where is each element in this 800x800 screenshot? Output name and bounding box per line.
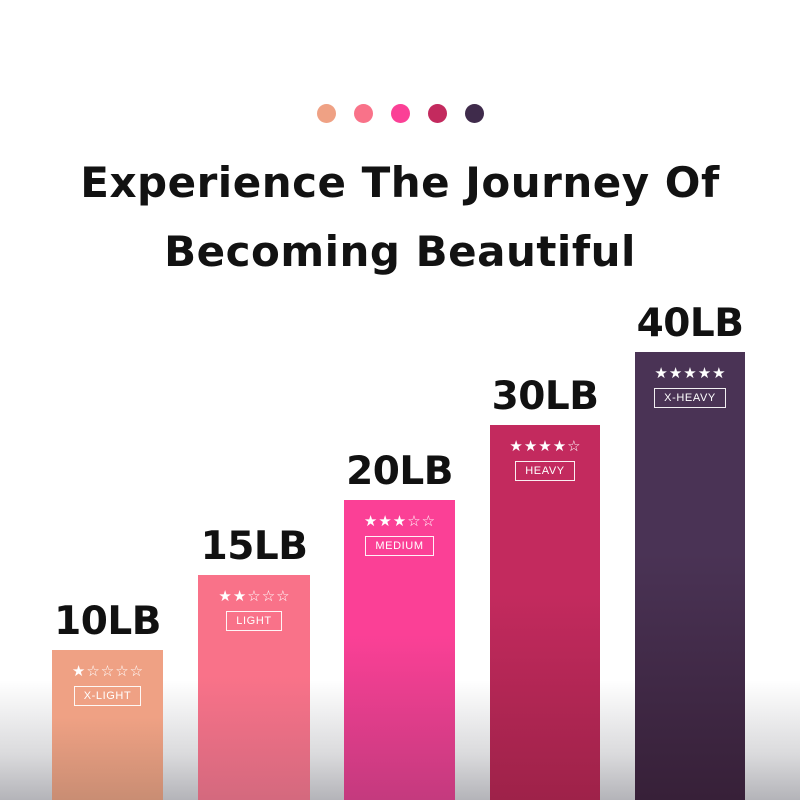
color-swatch-row bbox=[0, 104, 800, 123]
dot-medium bbox=[391, 104, 410, 123]
bar-weight-label: 30LB bbox=[492, 375, 599, 419]
star-empty-icon: ☆ bbox=[247, 589, 260, 604]
product-infographic: Experience The Journey Of Becoming Beaut… bbox=[0, 0, 800, 800]
star-filled-icon: ★ bbox=[509, 439, 522, 454]
dot-x-heavy bbox=[465, 104, 484, 123]
star-empty-icon: ☆ bbox=[422, 514, 435, 529]
bar-weight-label: 40LB bbox=[637, 302, 744, 346]
star-empty-icon: ☆ bbox=[262, 589, 275, 604]
star-rating: ★☆☆☆☆ bbox=[72, 664, 143, 679]
bar-group[interactable]: 15LB★★☆☆☆LIGHT bbox=[198, 519, 310, 800]
bar-rating-badge: ★★★★★X-HEAVY bbox=[635, 366, 745, 408]
bar-weight-label: 10LB bbox=[54, 600, 161, 644]
bar-weight-label: 20LB bbox=[346, 450, 453, 494]
bar-rating-badge: ★★★★☆HEAVY bbox=[490, 439, 600, 481]
bar-column[interactable]: ★☆☆☆☆X-LIGHT bbox=[52, 650, 163, 800]
bar-column[interactable]: ★★★☆☆MEDIUM bbox=[344, 500, 455, 800]
star-filled-icon: ★ bbox=[538, 439, 551, 454]
star-filled-icon: ★ bbox=[712, 366, 725, 381]
headline-line-1: Experience The Journey Of bbox=[0, 148, 800, 217]
star-filled-icon: ★ bbox=[378, 514, 391, 529]
star-filled-icon: ★ bbox=[669, 366, 682, 381]
bar-column[interactable]: ★★★★★X-HEAVY bbox=[635, 352, 745, 800]
star-rating: ★★★☆☆ bbox=[364, 514, 435, 529]
star-filled-icon: ★ bbox=[524, 439, 537, 454]
bar-group[interactable]: 30LB★★★★☆HEAVY bbox=[490, 369, 600, 800]
tier-label: X-LIGHT bbox=[74, 686, 142, 706]
star-filled-icon: ★ bbox=[654, 366, 667, 381]
star-empty-icon: ☆ bbox=[567, 439, 580, 454]
star-empty-icon: ☆ bbox=[276, 589, 289, 604]
page-title: Experience The Journey Of Becoming Beaut… bbox=[0, 148, 800, 286]
dot-x-light bbox=[317, 104, 336, 123]
star-rating: ★★☆☆☆ bbox=[218, 589, 289, 604]
bar-column[interactable]: ★★☆☆☆LIGHT bbox=[198, 575, 310, 800]
star-filled-icon: ★ bbox=[698, 366, 711, 381]
star-empty-icon: ☆ bbox=[407, 514, 420, 529]
bar-group[interactable]: 10LB★☆☆☆☆X-LIGHT bbox=[52, 594, 163, 800]
star-empty-icon: ☆ bbox=[130, 664, 143, 679]
star-rating: ★★★★★ bbox=[654, 366, 725, 381]
star-filled-icon: ★ bbox=[218, 589, 231, 604]
tier-label: HEAVY bbox=[515, 461, 574, 481]
bar-rating-badge: ★★★☆☆MEDIUM bbox=[344, 514, 455, 556]
tier-label: X-HEAVY bbox=[654, 388, 726, 408]
bar-rating-badge: ★★☆☆☆LIGHT bbox=[198, 589, 310, 631]
star-rating: ★★★★☆ bbox=[509, 439, 580, 454]
tier-label: MEDIUM bbox=[365, 536, 433, 556]
bar-group[interactable]: 20LB★★★☆☆MEDIUM bbox=[344, 444, 455, 800]
star-filled-icon: ★ bbox=[393, 514, 406, 529]
star-filled-icon: ★ bbox=[72, 664, 85, 679]
star-filled-icon: ★ bbox=[553, 439, 566, 454]
bar-rating-badge: ★☆☆☆☆X-LIGHT bbox=[52, 664, 163, 706]
bar-group[interactable]: 40LB★★★★★X-HEAVY bbox=[635, 296, 745, 800]
star-empty-icon: ☆ bbox=[86, 664, 99, 679]
star-empty-icon: ☆ bbox=[115, 664, 128, 679]
star-filled-icon: ★ bbox=[233, 589, 246, 604]
bar-weight-label: 15LB bbox=[201, 525, 308, 569]
tier-label: LIGHT bbox=[226, 611, 281, 631]
dot-heavy bbox=[428, 104, 447, 123]
star-filled-icon: ★ bbox=[364, 514, 377, 529]
bar-column[interactable]: ★★★★☆HEAVY bbox=[490, 425, 600, 800]
star-empty-icon: ☆ bbox=[101, 664, 114, 679]
dot-light bbox=[354, 104, 373, 123]
headline-line-2: Becoming Beautiful bbox=[0, 217, 800, 286]
star-filled-icon: ★ bbox=[683, 366, 696, 381]
